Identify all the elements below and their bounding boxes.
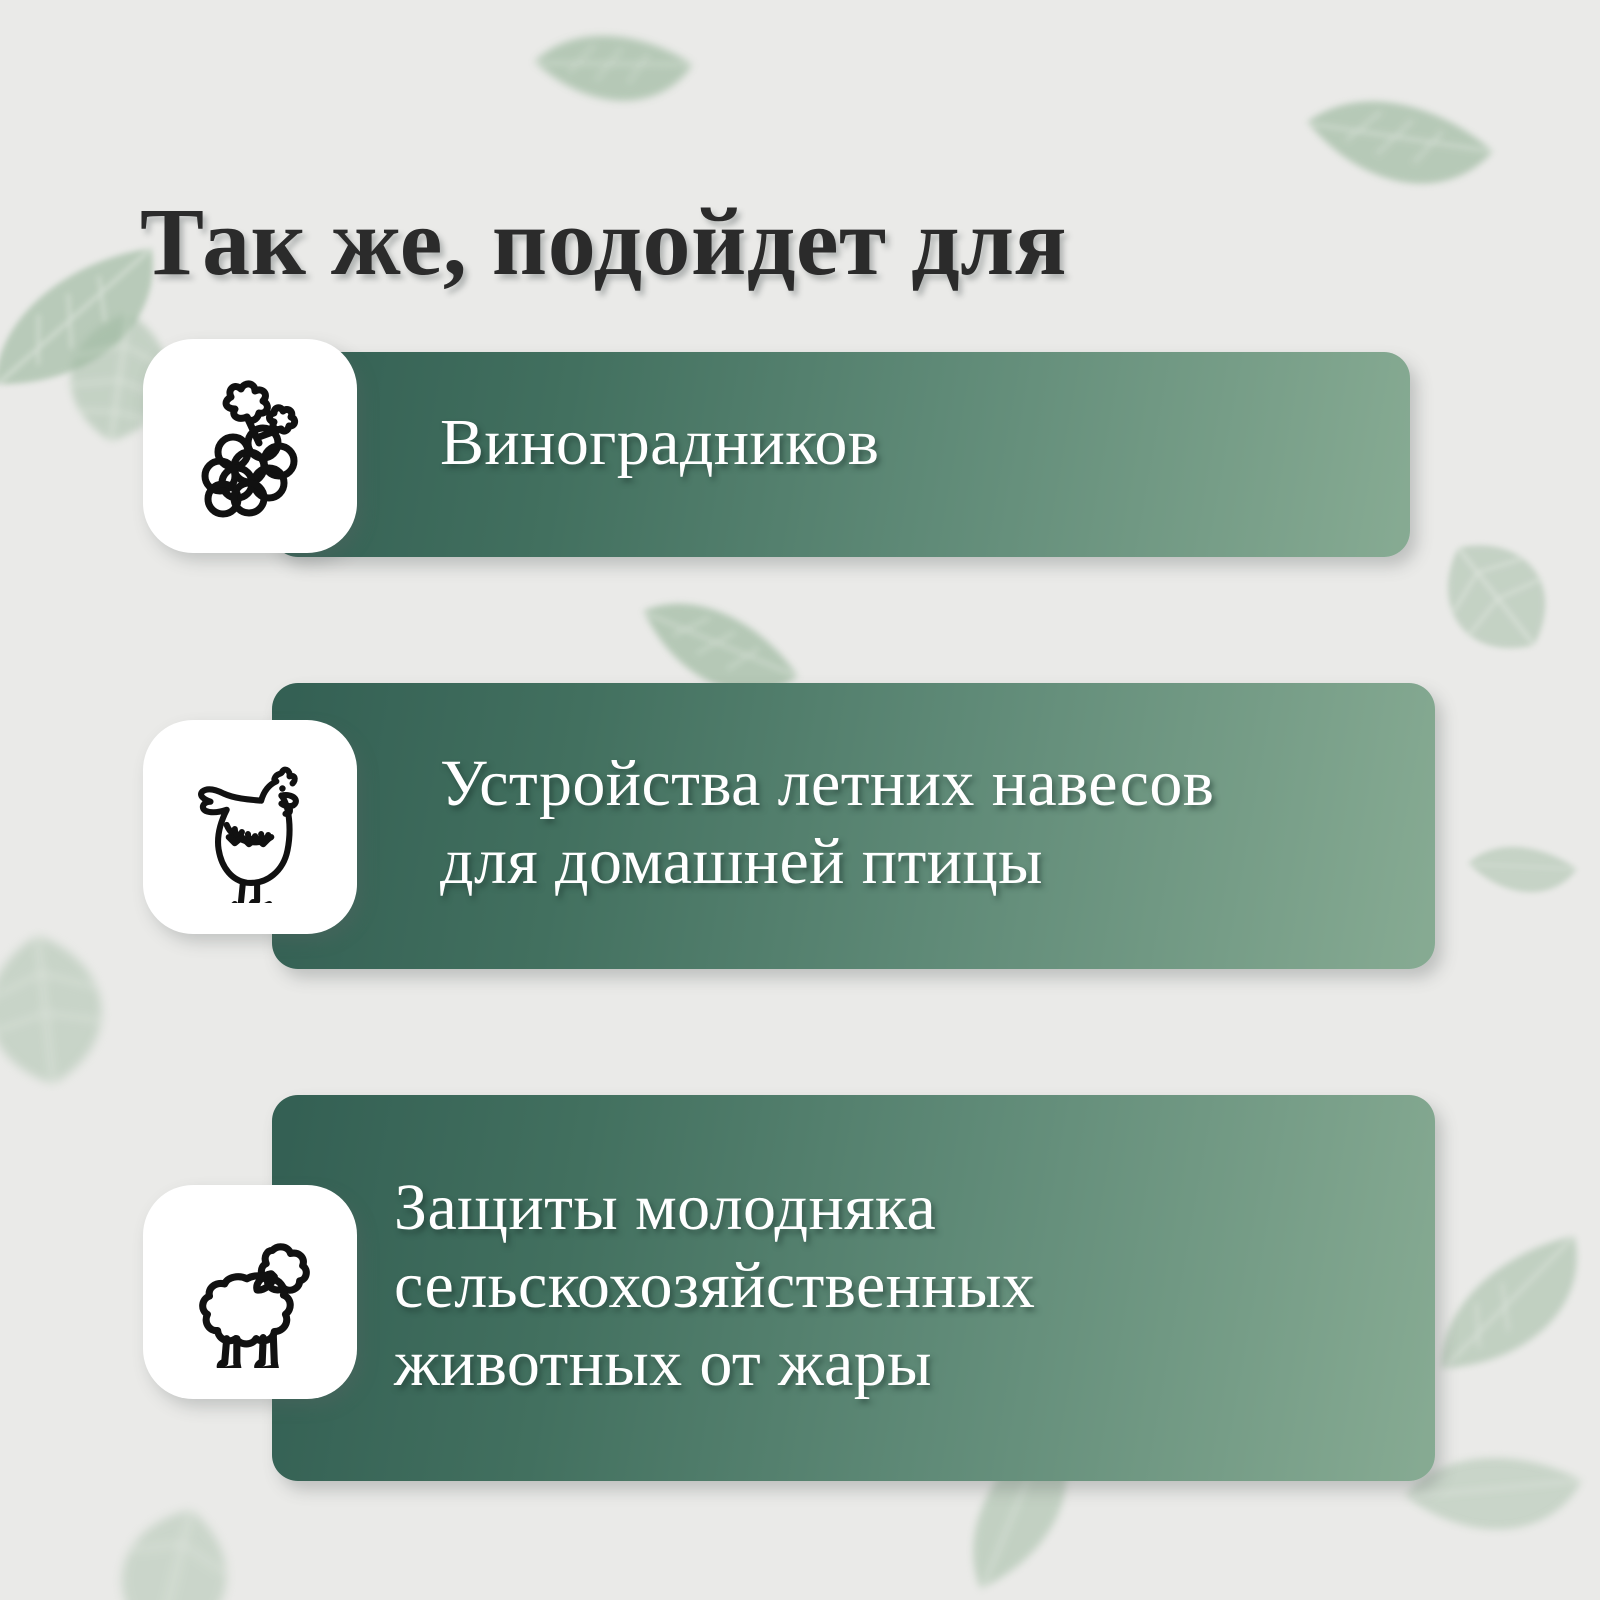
icon-tile-poultry[interactable]	[143, 720, 357, 934]
page-title: Так же, подойдет для	[140, 190, 1067, 294]
leaf-top-right	[1280, 38, 1510, 249]
sheep-icon	[174, 1216, 326, 1368]
chicken-icon	[174, 751, 326, 903]
benefit-card-poultry-canopies[interactable]: Устройства летних навесов для домашней п…	[272, 683, 1435, 969]
leaf-mid-right	[1453, 810, 1587, 930]
benefit-card-label: Виноградников	[440, 404, 879, 482]
grapes-icon	[175, 371, 325, 521]
leaf-top-center	[515, 0, 706, 152]
benefit-card-livestock-heat-protection[interactable]: Защиты молодняка сельскохозяйственных жи…	[272, 1095, 1435, 1481]
benefit-card-label: Защиты молодняка сельскохозяйственных жи…	[394, 1169, 1035, 1403]
icon-tile-vineyards[interactable]	[143, 339, 357, 553]
leaf-bottom-left	[44, 1470, 306, 1600]
benefit-card-vineyards[interactable]: Виноградников	[272, 352, 1410, 557]
leaf-left-lower	[0, 908, 169, 1106]
poster-canvas: Так же, подойдет для Виноградников Устро…	[0, 0, 1600, 1600]
benefit-card-label: Устройства летних навесов для домашней п…	[440, 745, 1214, 901]
icon-tile-livestock[interactable]	[143, 1185, 357, 1399]
